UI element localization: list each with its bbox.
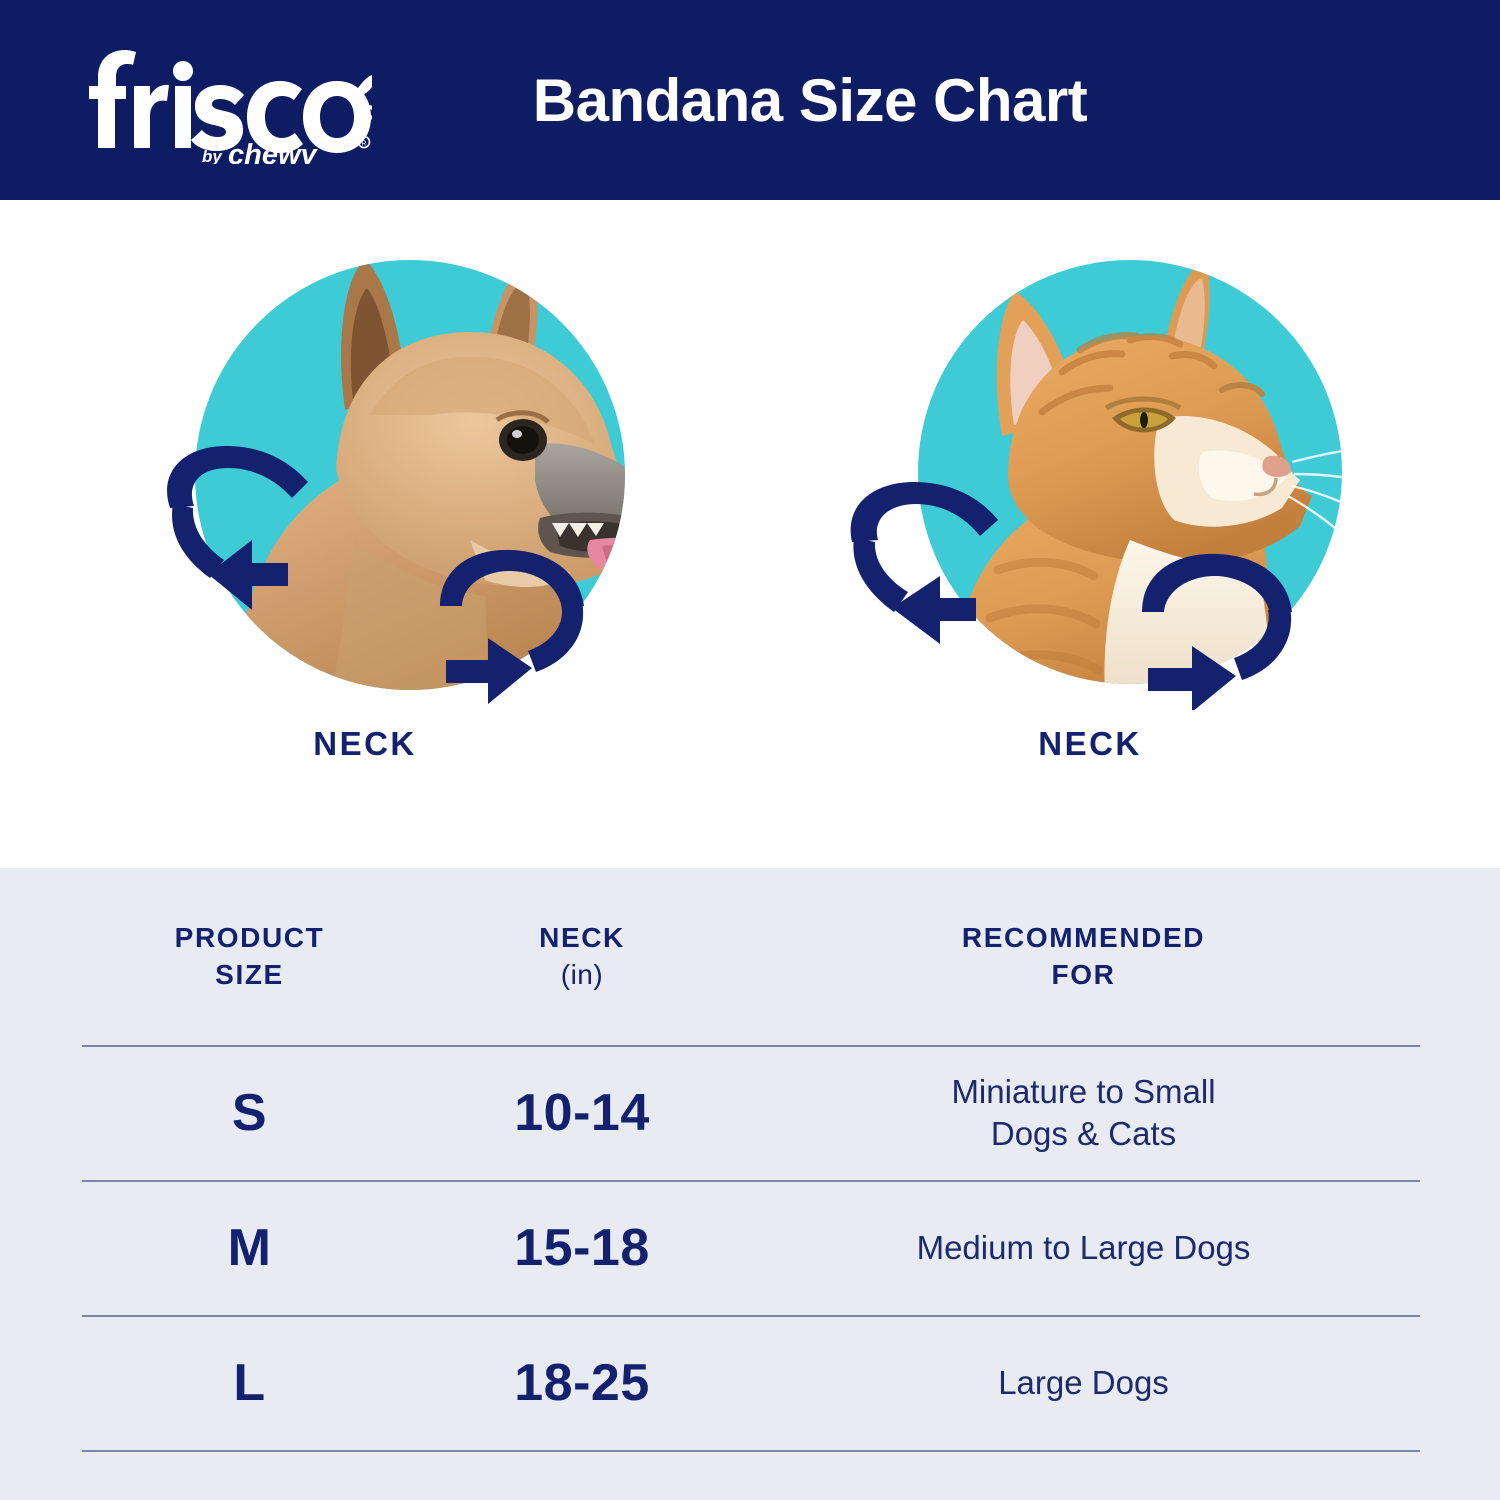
- size-chart-page: R by chewy Bandana Size Chart: [0, 0, 1500, 1500]
- dog-neck-diagram: [140, 240, 760, 710]
- cell-size-s: S: [82, 1083, 417, 1143]
- table-row: M 15-18 Medium to Large Dogs: [82, 1180, 1420, 1315]
- table-header-row: PRODUCT SIZE NECK (in) RECOMMENDED FOR: [82, 868, 1420, 1045]
- page-header: R by chewy Bandana Size Chart: [0, 0, 1500, 200]
- cell-neck-l: 18-25: [417, 1353, 747, 1413]
- table-row: S 10-14 Miniature to Small Dogs & Cats: [82, 1045, 1420, 1180]
- table-divider: [82, 1450, 1420, 1452]
- cat-neck-diagram: [830, 240, 1450, 710]
- cell-size-m: M: [82, 1218, 417, 1278]
- table-divider: [82, 1180, 1420, 1182]
- cat-illustration-block: NECK: [830, 200, 1450, 868]
- dog-illustration-block: NECK: [140, 200, 760, 868]
- cat-neck-label: NECK: [780, 725, 1400, 763]
- dog-head-icon: [140, 240, 760, 710]
- size-table-section: PRODUCT SIZE NECK (in) RECOMMENDED FOR S…: [0, 868, 1500, 1500]
- illustration-band: NECK: [0, 200, 1500, 868]
- cell-recommended-l: Large Dogs: [747, 1362, 1420, 1403]
- column-header-recommended-for: RECOMMENDED FOR: [747, 920, 1420, 993]
- table-divider: [82, 1045, 1420, 1047]
- cell-neck-m: 15-18: [417, 1218, 747, 1278]
- page-title: Bandana Size Chart: [0, 0, 1500, 200]
- cell-recommended-s: Miniature to Small Dogs & Cats: [747, 1071, 1420, 1154]
- size-table: PRODUCT SIZE NECK (in) RECOMMENDED FOR S…: [82, 868, 1420, 1450]
- cell-neck-s: 10-14: [417, 1083, 747, 1143]
- table-divider: [82, 1315, 1420, 1317]
- column-header-neck: NECK (in): [417, 920, 747, 993]
- cell-size-l: L: [82, 1353, 417, 1413]
- cell-recommended-m: Medium to Large Dogs: [747, 1227, 1420, 1268]
- dog-neck-label: NECK: [55, 725, 675, 763]
- cat-head-icon: [830, 240, 1450, 710]
- column-header-product-size: PRODUCT SIZE: [82, 920, 417, 993]
- table-row: L 18-25 Large Dogs: [82, 1315, 1420, 1450]
